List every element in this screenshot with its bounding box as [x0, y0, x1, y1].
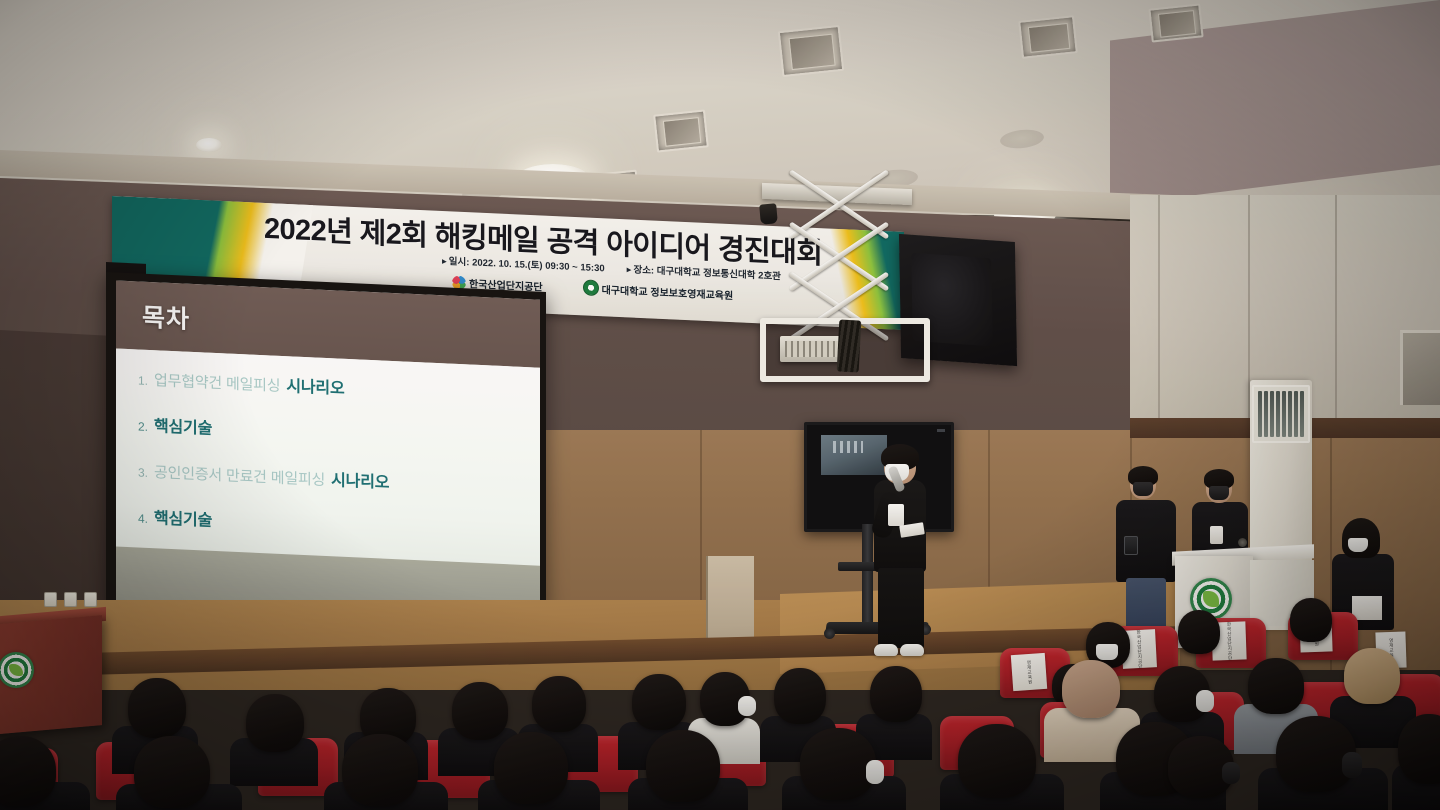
- toc-item: 4. 핵심기술: [138, 503, 540, 545]
- organizer-daegu: 대구대학교 정보보호영재교육원: [583, 279, 734, 302]
- toc-number: 3.: [138, 465, 148, 479]
- ceiling-vent: [1148, 3, 1203, 42]
- wall-niche: [1400, 330, 1440, 405]
- face-mask: [1209, 486, 1229, 500]
- audience-head: [1178, 610, 1220, 654]
- projector: [780, 336, 844, 362]
- daegu-university-logo-icon: [583, 279, 599, 296]
- audience-head: [1062, 660, 1120, 718]
- audience-head: [958, 724, 1036, 798]
- toc-emphasis: 시나리오: [331, 466, 389, 493]
- toc-text: 공인인증서 만료건 메일피싱: [154, 461, 325, 490]
- face-mask: [1222, 762, 1240, 784]
- audience-head: [774, 668, 826, 724]
- toc-number: 2.: [138, 419, 148, 433]
- audience-head: [800, 728, 876, 800]
- face-mask: [1133, 482, 1153, 496]
- ceiling-vent: [1018, 15, 1078, 59]
- face-mask: [1342, 752, 1362, 778]
- face-mask: [1196, 690, 1214, 712]
- smartphone-icon[interactable]: [1124, 536, 1138, 555]
- toc-emphasis: 시나리오: [286, 372, 344, 399]
- seat-placard: 영재교육원: [1011, 653, 1047, 691]
- toc-item: 2. 핵심기술: [138, 411, 540, 453]
- ceiling-vent: [653, 109, 709, 152]
- projection-screen: 목차 1. 업무협약건 메일피싱 시나리오 2. 핵심기술 3. 공인인증서 만…: [106, 272, 546, 630]
- face-mask: [1096, 644, 1118, 660]
- audience-head: [246, 694, 304, 752]
- audience-head: [1344, 648, 1400, 704]
- placard-text: 영재교육원: [1025, 660, 1033, 685]
- projector-cables: [837, 319, 862, 372]
- audience-head: [1290, 598, 1332, 642]
- placard-text: 한국산업단지공단: [1135, 629, 1143, 668]
- toc-number: 4.: [138, 511, 148, 525]
- toc-emphasis: 핵심기술: [154, 412, 212, 439]
- air-conditioner-grille-icon: [1252, 385, 1310, 443]
- audience-head: [128, 678, 186, 738]
- audience-head: [494, 732, 568, 804]
- toc-emphasis: 핵심기술: [154, 504, 212, 531]
- face-mask: [866, 760, 884, 784]
- placard-text: 한국산업단지공단: [1225, 621, 1233, 660]
- podium-microphone-icon: [1238, 538, 1247, 547]
- presenter-name-badge: [888, 504, 904, 526]
- audience-head: [632, 674, 686, 730]
- toc-item: 1. 업무협약건 메일피싱 시나리오: [138, 365, 540, 407]
- toc-text: 업무협약건 메일피싱: [154, 369, 280, 396]
- audience-head: [134, 736, 210, 808]
- slide-title: 목차: [142, 298, 190, 336]
- audience-area: 영재교육원 한국산업단지공단 한국산업단지공단 영재교육원 영재교육원: [0, 596, 1440, 810]
- audience-head: [342, 734, 418, 806]
- toc-number: 1.: [138, 373, 148, 387]
- name-badge: [1210, 526, 1223, 544]
- toc-item: 3. 공인인증서 만료건 메일피싱 시나리오: [138, 457, 540, 499]
- presentation-slide: 목차 1. 업무협약건 메일피싱 시나리오 2. 핵심기술 3. 공인인증서 만…: [116, 280, 540, 621]
- organizer-daegu-label: 대구대학교 정보보호영재교육원: [602, 285, 734, 302]
- audience-head: [646, 730, 720, 802]
- slide-body: 1. 업무협약건 메일피싱 시나리오 2. 핵심기술 3. 공인인증서 만료건 …: [116, 348, 540, 565]
- auditorium-scene: 2022년 제2회 해킹메일 공격 아이디어 경진대회 일시: 2022. 10…: [0, 0, 1440, 810]
- audience-head: [870, 666, 922, 722]
- audience-head: [532, 676, 586, 732]
- audience-head: [0, 736, 56, 806]
- ceiling-light: [196, 138, 222, 152]
- audience-head: [1248, 658, 1304, 714]
- audience-head: [452, 682, 508, 740]
- monitor-led-icon: [937, 429, 945, 432]
- face-mask: [738, 696, 756, 716]
- face-mask: [1348, 538, 1368, 552]
- ceiling-vent: [778, 25, 844, 77]
